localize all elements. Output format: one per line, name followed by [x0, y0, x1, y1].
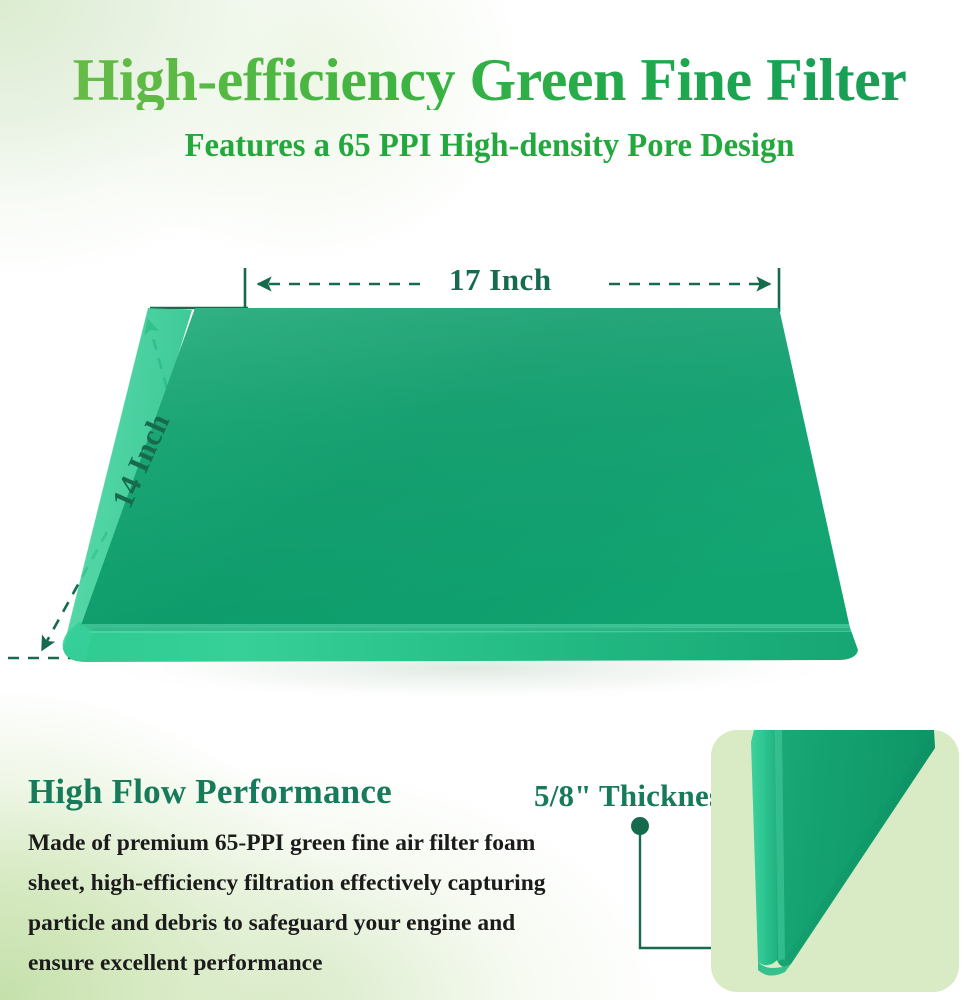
infographic-page: High-efficiency Green Fine Filter Featur… — [0, 0, 979, 1000]
page-subtitle: Features a 65 PPI High-density Pore Desi… — [20, 129, 960, 163]
thickness-closeup-panel — [711, 730, 959, 992]
feature-body-line-2: sheet, high-efficiency filtration effect… — [28, 863, 588, 903]
feature-body-line-1: Made of premium 65-PPI green fine air fi… — [28, 823, 588, 863]
thickness-label: 5/8" Thickness — [534, 778, 733, 814]
feature-body-line-3: particle and debris to safeguard your en… — [28, 903, 588, 943]
page-title: High-efficiency Green Fine Filter — [0, 50, 979, 110]
feature-description: Made of premium 65-PPI green fine air fi… — [28, 823, 588, 983]
dimension-label-width: 17 Inch — [449, 262, 552, 298]
feature-body-line-4: ensure excellent performance — [28, 943, 588, 983]
feature-heading: High Flow Performance — [28, 772, 392, 812]
leader-dot — [631, 817, 649, 835]
